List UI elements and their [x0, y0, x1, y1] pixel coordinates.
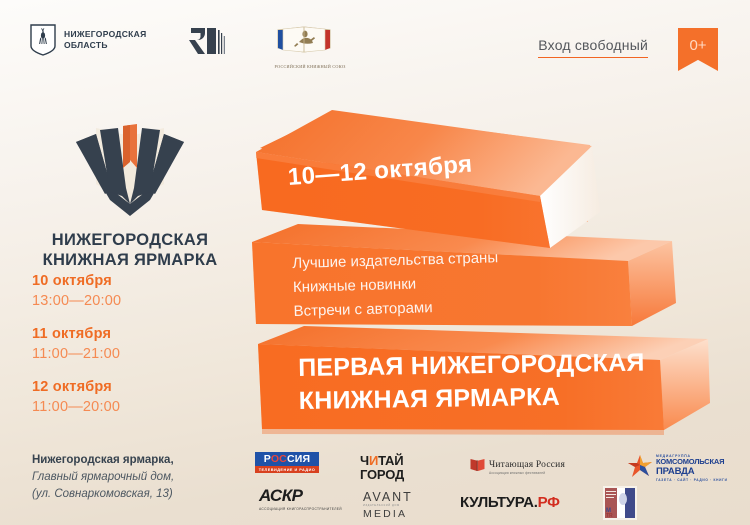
logo-kultura-rf: КУЛЬТУРА.РФ [460, 494, 560, 511]
kp-line-2: ПРАВДА [656, 467, 728, 477]
venue-block: Нижегородская ярмарка, Главный ярмарочны… [32, 452, 247, 503]
avant-tagline: ИЗДАТЕЛЬСКИЙ ДОМ [363, 504, 413, 507]
nn-region-label: НИЖЕГОРОДСКАЯ ОБЛАСТЬ [64, 29, 147, 51]
svg-text:TR: TR [606, 513, 613, 519]
venue-building: Главный ярмарочный дом, [32, 469, 247, 486]
schedule-date: 10 октября [32, 272, 232, 291]
logo-askr: АСКР АССОЦИАЦИЯ КНИГОРАСПРОСТРАНИТЕЛЕЙ [259, 486, 342, 511]
schedule-item: 11 октября 11:00—21:00 [32, 325, 232, 364]
logo-medya-trade: M TR [603, 486, 637, 525]
deer-shield-icon [30, 24, 56, 56]
kp-text: МЕДИАГРУППА КОМСОМОЛЬСКАЯ ПРАВДА ГАЗЕТА … [656, 454, 728, 482]
fair-brand: НИЖЕГОРОДСКАЯ КНИЖНАЯ ЯРМАРКА [30, 112, 230, 270]
logo-russian-book-union: РОССИЙСКИЙ КНИЖНЫЙ СОЮЗ [275, 24, 333, 68]
header: НИЖЕГОРОДСКАЯ ОБЛАСТЬ [0, 0, 750, 92]
partner-logos: РОССИЯ ТЕЛЕВИДЕНИЕ И РАДИО АСКР АССОЦИАЦ… [255, 450, 735, 522]
open-book-logo-icon [66, 112, 194, 222]
kp-tagline-bottom: ГАЗЕТА · САЙТ · РАДИО · КНИГИ [656, 478, 728, 482]
chros-text: Читающая Россия Ассоциация книжных фести… [489, 460, 565, 475]
logo-rossiya: РОССИЯ ТЕЛЕВИДЕНИЕ И РАДИО [255, 452, 319, 473]
rossiya-tagline: ТЕЛЕВИДЕНИЕ И РАДИО [255, 466, 319, 473]
rossiya-wordmark: РОССИЯ [255, 452, 319, 466]
venue-name: Нижегородская ярмарка, [32, 452, 247, 469]
logo-komsomolskaya-pravda: МЕДИАГРУППА КОМСОМОЛЬСКАЯ ПРАВДА ГАЗЕТА … [627, 454, 728, 485]
rbu-caption: РОССИЙСКИЙ КНИЖНЫЙ СОЮЗ [275, 64, 333, 69]
book-highlights: Лучшие издательства страны Книжные новин… [292, 246, 500, 324]
logo-avant-media: AVANT ИЗДАТЕЛЬСКИЙ ДОМ MEDIA [363, 490, 413, 520]
fair-title: ПЕРВАЯ НИЖЕГОРОДСКАЯ КНИЖНАЯ ЯРМАРКА [298, 347, 645, 418]
schedule-time: 13:00—20:00 [32, 291, 232, 311]
fair-brand-name: НИЖЕГОРОДСКАЯ КНИЖНАЯ ЯРМАРКА [30, 230, 230, 270]
free-entry-label: Вход свободный [538, 37, 648, 58]
schedule-time: 11:00—21:00 [32, 344, 232, 364]
schedule-item: 12 октября 11:00—20:00 [32, 378, 232, 417]
chros-subtitle: Ассоциация книжных фестивалей [489, 471, 565, 475]
logo-chitay-gorod: ЧИТАЙ ГОРОД [360, 454, 404, 482]
schedule-item: 10 октября 13:00—20:00 [32, 272, 232, 311]
logo-ya [189, 24, 233, 58]
schedule-list: 10 октября 13:00—20:00 11 октября 11:00—… [32, 272, 232, 431]
chitay-line-2: ГОРОД [360, 468, 404, 482]
schedule-time: 11:00—20:00 [32, 397, 232, 417]
schedule-date: 11 октября [32, 325, 232, 344]
logo-chitayushchaya-rossiya: Читающая Россия Ассоциация книжных фести… [470, 458, 565, 477]
book-stack-illustration: 10—12 октября Лучшие издательства страны… [240, 100, 750, 445]
header-logo-group: НИЖЕГОРОДСКАЯ ОБЛАСТЬ [30, 24, 333, 68]
chros-title: Читающая Россия [489, 460, 565, 470]
venue-address: (ул. Совнаркомовская, 13) [32, 486, 247, 503]
open-book-emblem-icon [275, 24, 333, 58]
kp-star-icon [627, 454, 653, 485]
red-book-icon [470, 458, 485, 477]
fair-title-line-2: КНИЖНАЯ ЯРМАРКА [299, 380, 646, 418]
age-rating-badge: 0+ [678, 28, 718, 71]
media-wordmark: MEDIA [363, 508, 413, 520]
fair-title-line-1: ПЕРВАЯ НИЖЕГОРОДСКАЯ [298, 347, 645, 385]
askr-tagline: АССОЦИАЦИЯ КНИГОРАСПРОСТРАНИТЕЛЕЙ [259, 507, 342, 511]
chitay-line-1: ЧИТАЙ [360, 454, 404, 468]
logo-nizhny-novgorod-region: НИЖЕГОРОДСКАЯ ОБЛАСТЬ [30, 24, 147, 56]
schedule-date: 12 октября [32, 378, 232, 397]
avant-wordmark: AVANT [363, 490, 413, 504]
poster-root: НИЖЕГОРОДСКАЯ ОБЛАСТЬ [0, 0, 750, 525]
askr-wordmark: АСКР [259, 486, 342, 506]
